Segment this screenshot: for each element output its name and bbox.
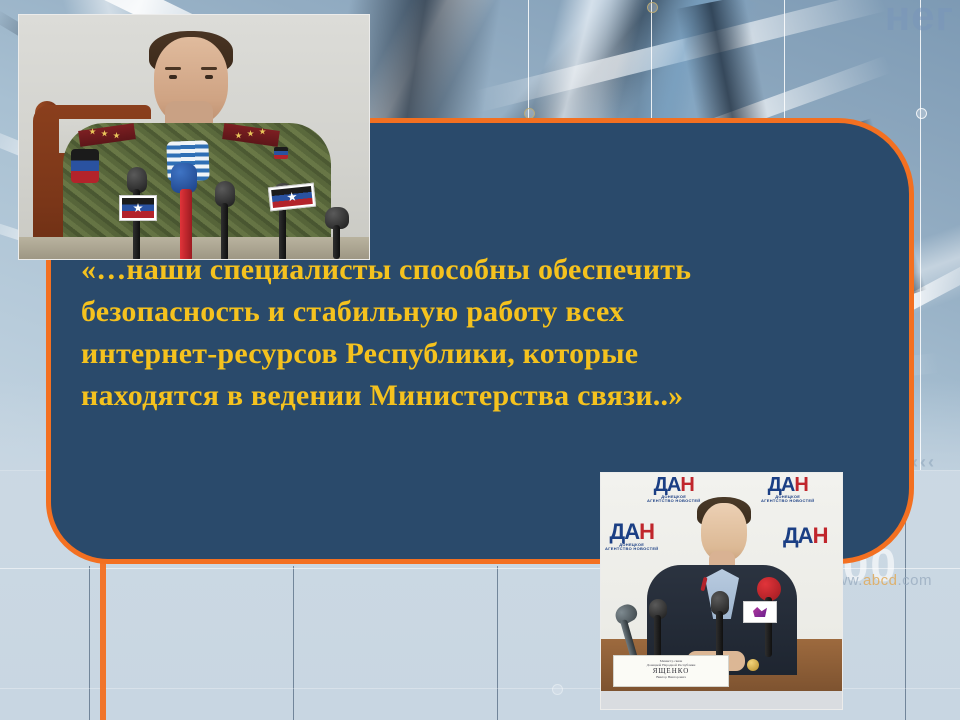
officer-brow-left bbox=[165, 67, 181, 70]
left-orange-accent-bar bbox=[100, 556, 106, 720]
dan-logo-mark: ДАН bbox=[605, 521, 658, 543]
quote-line-2: безопасность и стабильную работу всех bbox=[81, 291, 881, 333]
dan-logo-mark: ДАН bbox=[647, 475, 700, 495]
watermark-url-suffix: .com bbox=[897, 572, 932, 589]
dan-logo-sub2: АГЕНТСТВО НОВОСТЕЙ bbox=[605, 547, 658, 551]
dan-logo-mark-left: ДА bbox=[783, 523, 813, 548]
officer-chest-patch bbox=[274, 147, 288, 159]
mic-flag-novorossiya bbox=[119, 195, 157, 221]
mic-stem bbox=[180, 189, 192, 260]
grid-hairline bbox=[920, 0, 921, 470]
dan-logo-mark-left: ДА bbox=[610, 519, 640, 544]
dan-logo-mark: ДАН bbox=[761, 475, 814, 495]
nameplate-line-4: Виктор Викторович bbox=[616, 675, 726, 679]
dan-logo: ДАН bbox=[783, 525, 827, 547]
channel-logo-icon bbox=[753, 607, 767, 617]
slide-canvas: нег ‹‹‹ 700 http://www.abcd.com «…наши с… bbox=[0, 0, 960, 720]
photo-officer bbox=[18, 14, 370, 260]
dan-logo-sub2: АГЕНТСТВО НОВОСТЕЙ bbox=[761, 499, 814, 503]
quote-line-4: находятся в ведении Министерства связи..… bbox=[81, 375, 881, 417]
grid-marker-dot bbox=[552, 684, 563, 695]
officer-brow-right bbox=[201, 67, 217, 70]
dan-logo: ДАН ДОНЕЦКОЕ АГЕНТСТВО НОВОСТЕЙ bbox=[605, 521, 658, 551]
mic-stem bbox=[279, 205, 286, 260]
officer-eye-right bbox=[205, 75, 213, 79]
grid-hairline bbox=[497, 566, 498, 720]
photo-minister: ДАН ДОНЕЦКОЕ АГЕНТСТВО НОВОСТЕЙ ДАН ДОНЕ… bbox=[600, 472, 843, 710]
shard bbox=[474, 0, 887, 112]
minister-watch bbox=[747, 659, 759, 671]
press-table bbox=[19, 237, 369, 259]
nameplate: Министр связи Донецкой Народной Республи… bbox=[613, 655, 729, 687]
watermark-url-accent: abcd bbox=[863, 572, 898, 589]
dan-logo-mark-right: Н bbox=[813, 523, 828, 548]
photo-minister-floor bbox=[601, 691, 842, 709]
dan-logo-mark: ДАН bbox=[783, 525, 827, 547]
watermark-top-right: нег bbox=[885, 0, 954, 40]
mic-flag-novorossiya-2 bbox=[268, 183, 316, 212]
grid-hairline bbox=[528, 0, 529, 118]
dan-logo: ДАН ДОНЕЦКОЕ АГЕНТСТВО НОВОСТЕЙ bbox=[761, 475, 814, 503]
watermark-chevrons: ‹‹‹ bbox=[912, 452, 936, 473]
grid-hairline bbox=[784, 0, 785, 118]
grid-marker-dot bbox=[647, 2, 658, 13]
dan-logo-sub2: АГЕНТСТВО НОВОСТЕЙ bbox=[647, 499, 700, 503]
mic-stem bbox=[221, 203, 228, 260]
dan-logo: ДАН ДОНЕЦКОЕ АГЕНТСТВО НОВОСТЕЙ bbox=[647, 475, 700, 503]
dan-logo-mark-right: Н bbox=[794, 474, 807, 496]
nameplate-line-3: ЯЩЕНКО bbox=[616, 667, 726, 675]
quote-line-3: интернет-ресурсов Республики, которые bbox=[81, 333, 881, 375]
dan-logo-mark-left: ДА bbox=[768, 474, 795, 496]
officer-eye-left bbox=[169, 75, 177, 79]
grid-hairline bbox=[293, 566, 294, 720]
grid-hairline bbox=[651, 0, 652, 118]
mic-stem bbox=[333, 225, 340, 259]
dan-logo-mark-right: Н bbox=[639, 519, 654, 544]
dan-logo-mark-right: Н bbox=[680, 474, 693, 496]
novorossiya-flag-icon bbox=[271, 186, 313, 208]
novorossiya-flag-icon bbox=[122, 198, 154, 218]
grid-hairline bbox=[89, 566, 90, 720]
officer-sleeve-patch bbox=[71, 149, 99, 183]
dan-logo-mark-left: ДА bbox=[654, 474, 681, 496]
mic-flag-channel bbox=[743, 601, 777, 623]
quote-text: «…наши специалисты способны обеспечить б… bbox=[81, 249, 881, 417]
grid-marker-dot bbox=[916, 108, 927, 119]
